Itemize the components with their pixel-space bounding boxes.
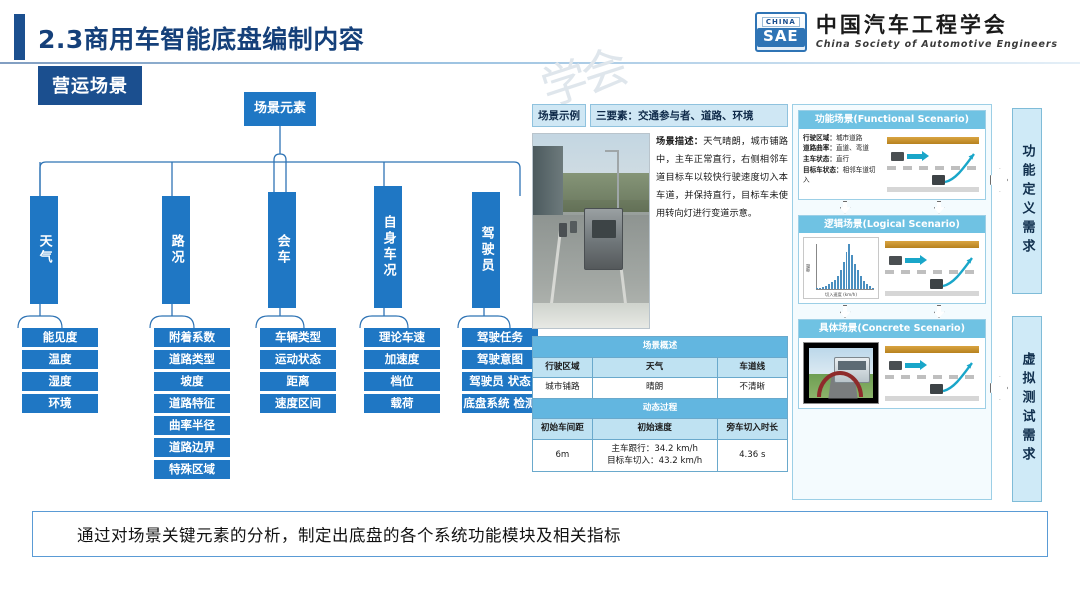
histogram-bars: [816, 244, 874, 289]
histogram-bar: [837, 276, 839, 289]
three-elements-chip: 三要素：交通参与者、道路、环境: [590, 104, 788, 127]
functional-scenario-box[interactable]: 功能场景(Functional Scenario) 行驶区域：城市道路 道路曲率…: [798, 110, 986, 200]
cutin-trajectory-icon: [939, 358, 977, 394]
organization-logo: CHINA SAE 中国汽车工程学会 China Society of Auto…: [755, 12, 1058, 52]
table-band-overview: 场景概述: [533, 337, 788, 358]
table-header-cell: 旁车切入时长: [717, 419, 788, 440]
leaf-column-meeting: 车辆类型 运动状态 距离 速度区间: [260, 328, 336, 416]
scene-description: 场景描述：天气晴朗，城市铺路中，主车正常直行，右侧相邻车道目标车以较快行驶速度切…: [656, 133, 788, 329]
leaf-item[interactable]: 温度: [22, 350, 98, 369]
leaf-item[interactable]: 附着系数: [154, 328, 230, 347]
cutin-trajectory-icon: [939, 253, 977, 289]
table-value-cell: 6m: [533, 439, 593, 471]
summary-footer: 通过对场景关键元素的分析，制定出底盘的各个系统功能模块及相关指标: [32, 511, 1048, 557]
concrete-lane-diagram: [883, 342, 981, 404]
histogram-bar: [872, 288, 874, 289]
cutin-trajectory-icon: [941, 149, 979, 185]
histogram-bar: [819, 288, 821, 289]
leaf-item[interactable]: 驾驶任务: [462, 328, 538, 347]
histogram-bar: [848, 244, 850, 289]
leaf-item[interactable]: 车辆类型: [260, 328, 336, 347]
page-title: 2.3商用车智能底盘编制内容: [38, 20, 364, 56]
table-header-cell: 行驶区域: [533, 357, 593, 378]
leaf-item[interactable]: 驾驶意图: [462, 350, 538, 369]
leaf-item[interactable]: 道路特征: [154, 394, 230, 413]
histogram-ylabel: 频数: [805, 264, 811, 272]
table-value-cell: 主车跟行：34.2 km/h 目标车切入：43.2 km/h: [592, 439, 717, 471]
scene-example-panel: 场景示例 三要素：交通参与者、道路、环境 场景描述：天气晴朗，城市铺路中，主车正…: [532, 104, 788, 500]
leaf-item[interactable]: 道路类型: [154, 350, 230, 369]
leaf-item[interactable]: 湿度: [22, 372, 98, 391]
table-header-cell: 初始车间距: [533, 419, 593, 440]
cutin-speed-histogram: 频数 切入速度 (km/h): [803, 237, 879, 299]
tree-branch-meeting[interactable]: 会车: [268, 192, 296, 308]
arrow-down-icon: [840, 305, 851, 318]
attribute-row: 主车状态：直行: [803, 154, 881, 165]
leaf-item[interactable]: 环境: [22, 394, 98, 413]
logical-scenario-title: 逻辑场景(Logical Scenario): [799, 216, 985, 234]
leaf-column-weather: 能见度 温度 湿度 环境: [22, 328, 98, 416]
arrow-right-icon: [990, 376, 1008, 400]
simulator-screenshot: [803, 342, 879, 404]
leaf-item[interactable]: 距离: [260, 372, 336, 391]
histogram-bar: [857, 270, 859, 289]
concrete-scenario-title: 具体场景(Concrete Scenario): [799, 320, 985, 338]
sae-badge-icon: CHINA SAE: [755, 12, 807, 52]
logo-text: 中国汽车工程学会 China Society of Automotive Eng…: [816, 14, 1058, 49]
leaf-item[interactable]: 能见度: [22, 328, 98, 347]
logo-name-cn: 中国汽车工程学会: [816, 14, 1058, 36]
table-row: 城市铺路 晴朗 不清晰: [533, 378, 788, 399]
leaf-item[interactable]: 速度区间: [260, 394, 336, 413]
leaf-item[interactable]: 加速度: [364, 350, 440, 369]
histogram-bar: [851, 255, 853, 289]
table-header-cell: 初始速度: [592, 419, 717, 440]
table-row: 行驶区域 天气 车道线: [533, 357, 788, 378]
tree-branch-road[interactable]: 路况: [162, 196, 190, 304]
arrow-down-icon: [934, 201, 945, 214]
logo-name-en: China Society of Automotive Engineers: [816, 39, 1058, 50]
histogram-bar: [816, 288, 818, 289]
table-band-dynamic: 动态过程: [533, 398, 788, 419]
table-header-cell: 天气: [592, 357, 717, 378]
functional-requirement-label: 功能定义需求: [1012, 108, 1042, 294]
table-value-cell: 城市铺路: [533, 378, 593, 399]
histogram-bar: [860, 276, 862, 289]
histogram-bar: [831, 282, 833, 289]
table-row: 动态过程: [533, 398, 788, 419]
scene-example-chip: 场景示例: [532, 104, 586, 127]
concrete-scenario-box[interactable]: 具体场景(Concrete Scenario): [798, 319, 986, 409]
title-accent-bar: [14, 14, 25, 60]
histogram-bar: [869, 286, 871, 289]
leaf-item[interactable]: 特殊区域: [154, 460, 230, 479]
scenario-pipeline-panel: 功能场景(Functional Scenario) 行驶区域：城市道路 道路曲率…: [792, 104, 992, 500]
tree-branch-weather[interactable]: 天气: [30, 196, 58, 304]
arrow-row-logical-to-concrete: [798, 304, 986, 319]
dashcam-image: [532, 133, 650, 329]
arrow-row-functional-to-logical: [798, 200, 986, 215]
histogram-bar: [825, 286, 827, 289]
leaf-column-driver: 驾驶任务 驾驶意图 驾驶员 状态 底盘系统 检测: [462, 328, 538, 416]
histogram-bar: [828, 284, 830, 289]
leaf-item[interactable]: 驾驶员 状态: [462, 372, 538, 391]
functional-attribute-list: 行驶区域：城市道路 道路曲率：直道、弯道 主车状态：直行 目标车状态：相邻车道切…: [803, 133, 881, 195]
histogram-bar: [866, 284, 868, 289]
target-truck-in-image: [584, 208, 623, 270]
table-row: 场景概述: [533, 337, 788, 358]
scene-parameter-table: 场景概述 行驶区域 天气 车道线 城市铺路 晴朗 不清晰 动态过程 初始车间距 …: [532, 336, 788, 472]
histogram-xlabel: 切入速度 (km/h): [804, 292, 878, 298]
lane-cutin-diagram: [885, 133, 981, 195]
leaf-item[interactable]: 道路边界: [154, 438, 230, 457]
histogram-bar: [846, 252, 848, 289]
leaf-item[interactable]: 档位: [364, 372, 440, 391]
leaf-column-road: 附着系数 道路类型 坡度 道路特征 曲率半径 道路边界 特殊区域: [154, 328, 230, 482]
summary-text: 通过对场景关键元素的分析，制定出底盘的各个系统功能模块及相关指标: [77, 522, 621, 546]
histogram-bar: [863, 281, 865, 289]
attribute-row: 道路曲率：直道、弯道: [803, 143, 881, 154]
arrow-down-icon: [934, 305, 945, 318]
leaf-item[interactable]: 坡度: [154, 372, 230, 391]
table-header-cell: 车道线: [717, 357, 788, 378]
histogram-bar: [854, 264, 856, 289]
leaf-item[interactable]: 曲率半径: [154, 416, 230, 435]
leaf-item[interactable]: 理论车速: [364, 328, 440, 347]
arrow-right-icon: [990, 168, 1008, 192]
leaf-item[interactable]: 底盘系统 检测: [462, 394, 538, 413]
table-row: 6m 主车跟行：34.2 km/h 目标车切入：43.2 km/h 4.36 s: [533, 439, 788, 471]
tree-branch-self-vehicle[interactable]: 自身车况: [374, 186, 402, 308]
virtual-test-requirement-label: 虚拟测试需求: [1012, 316, 1042, 502]
badge-line1: CHINA: [762, 17, 800, 27]
table-value-cell: 4.36 s: [717, 439, 788, 471]
attribute-row: 行驶区域：城市道路: [803, 133, 881, 144]
tree-root-node[interactable]: 场景元素: [244, 92, 316, 126]
leaf-column-self-vehicle: 理论车速 加速度 档位 载荷: [364, 328, 440, 416]
tree-branch-driver[interactable]: 驾驶员: [472, 192, 500, 308]
scene-description-text: 天气晴朗，城市铺路中，主车正常直行，右侧相邻车道目标车以较快行驶速度切入本车道，…: [656, 136, 788, 219]
histogram-bar: [834, 280, 836, 289]
scene-example-header: 场景示例 三要素：交通参与者、道路、环境: [532, 104, 788, 127]
attribute-row: 目标车状态：相邻车道切入: [803, 165, 881, 186]
logical-scenario-box[interactable]: 逻辑场景(Logical Scenario) 频数 切入速度 (km/h): [798, 215, 986, 305]
histogram-bar: [840, 270, 842, 289]
logical-lane-diagram: [883, 237, 981, 299]
scene-element-tree: 场景元素 天气 路况 会车 自身车况 驾驶员 能见度 温度 湿度 环境 附着系数…: [16, 92, 528, 504]
table-value-cell: 晴朗: [592, 378, 717, 399]
histogram-bar: [822, 287, 824, 289]
histogram-bar: [843, 262, 845, 289]
leaf-item[interactable]: 运动状态: [260, 350, 336, 369]
badge-line2: SAE: [757, 28, 805, 46]
table-row: 初始车间距 初始速度 旁车切入时长: [533, 419, 788, 440]
table-value-cell: 不清晰: [717, 378, 788, 399]
scene-body: 场景描述：天气晴朗，城市铺路中，主车正常直行，右侧相邻车道目标车以较快行驶速度切…: [532, 133, 788, 329]
scene-description-label: 场景描述：: [656, 136, 703, 147]
leaf-item[interactable]: 载荷: [364, 394, 440, 413]
arrow-down-icon: [840, 201, 851, 214]
functional-scenario-title: 功能场景(Functional Scenario): [799, 111, 985, 129]
